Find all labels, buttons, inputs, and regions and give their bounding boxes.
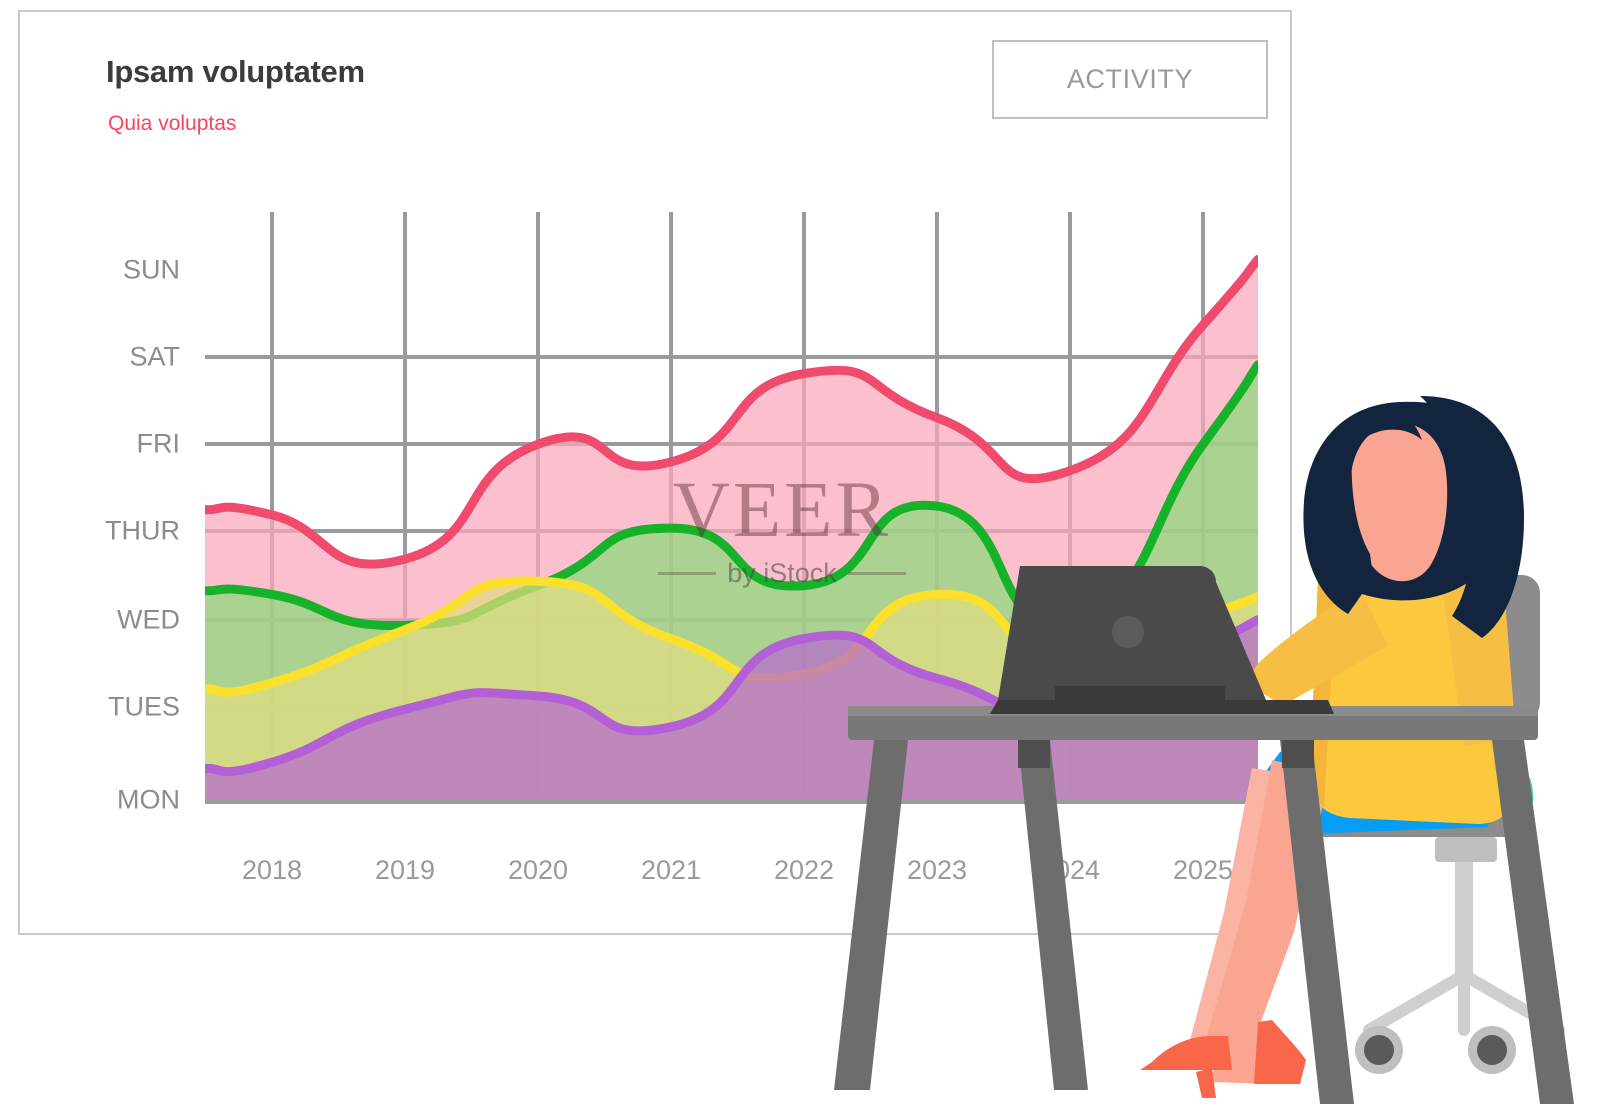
- chair-gas-cylinder: [1455, 862, 1473, 980]
- shoe-left-heel: [1196, 1068, 1216, 1098]
- laptop-logo-icon: [1112, 616, 1144, 648]
- desk-leg-mid: [1018, 740, 1088, 1090]
- laptop-base: [990, 700, 1334, 714]
- shoe-left: [1140, 1036, 1232, 1070]
- desk-leg-far-left: [834, 740, 908, 1090]
- chair-gas-mount: [1435, 837, 1497, 862]
- desk-leg-near-joint: [1282, 740, 1314, 768]
- chair-caster-right-wheel: [1477, 1035, 1507, 1065]
- chair-caster-left-wheel: [1364, 1035, 1394, 1065]
- laptop-hinge: [1055, 686, 1225, 700]
- screenshot-root: Ipsam voluptatem Quia voluptas ACTIVITY …: [0, 0, 1600, 1104]
- desk-leg-mid-joint: [1018, 740, 1050, 768]
- illustration-woman-at-desk: [0, 0, 1600, 1104]
